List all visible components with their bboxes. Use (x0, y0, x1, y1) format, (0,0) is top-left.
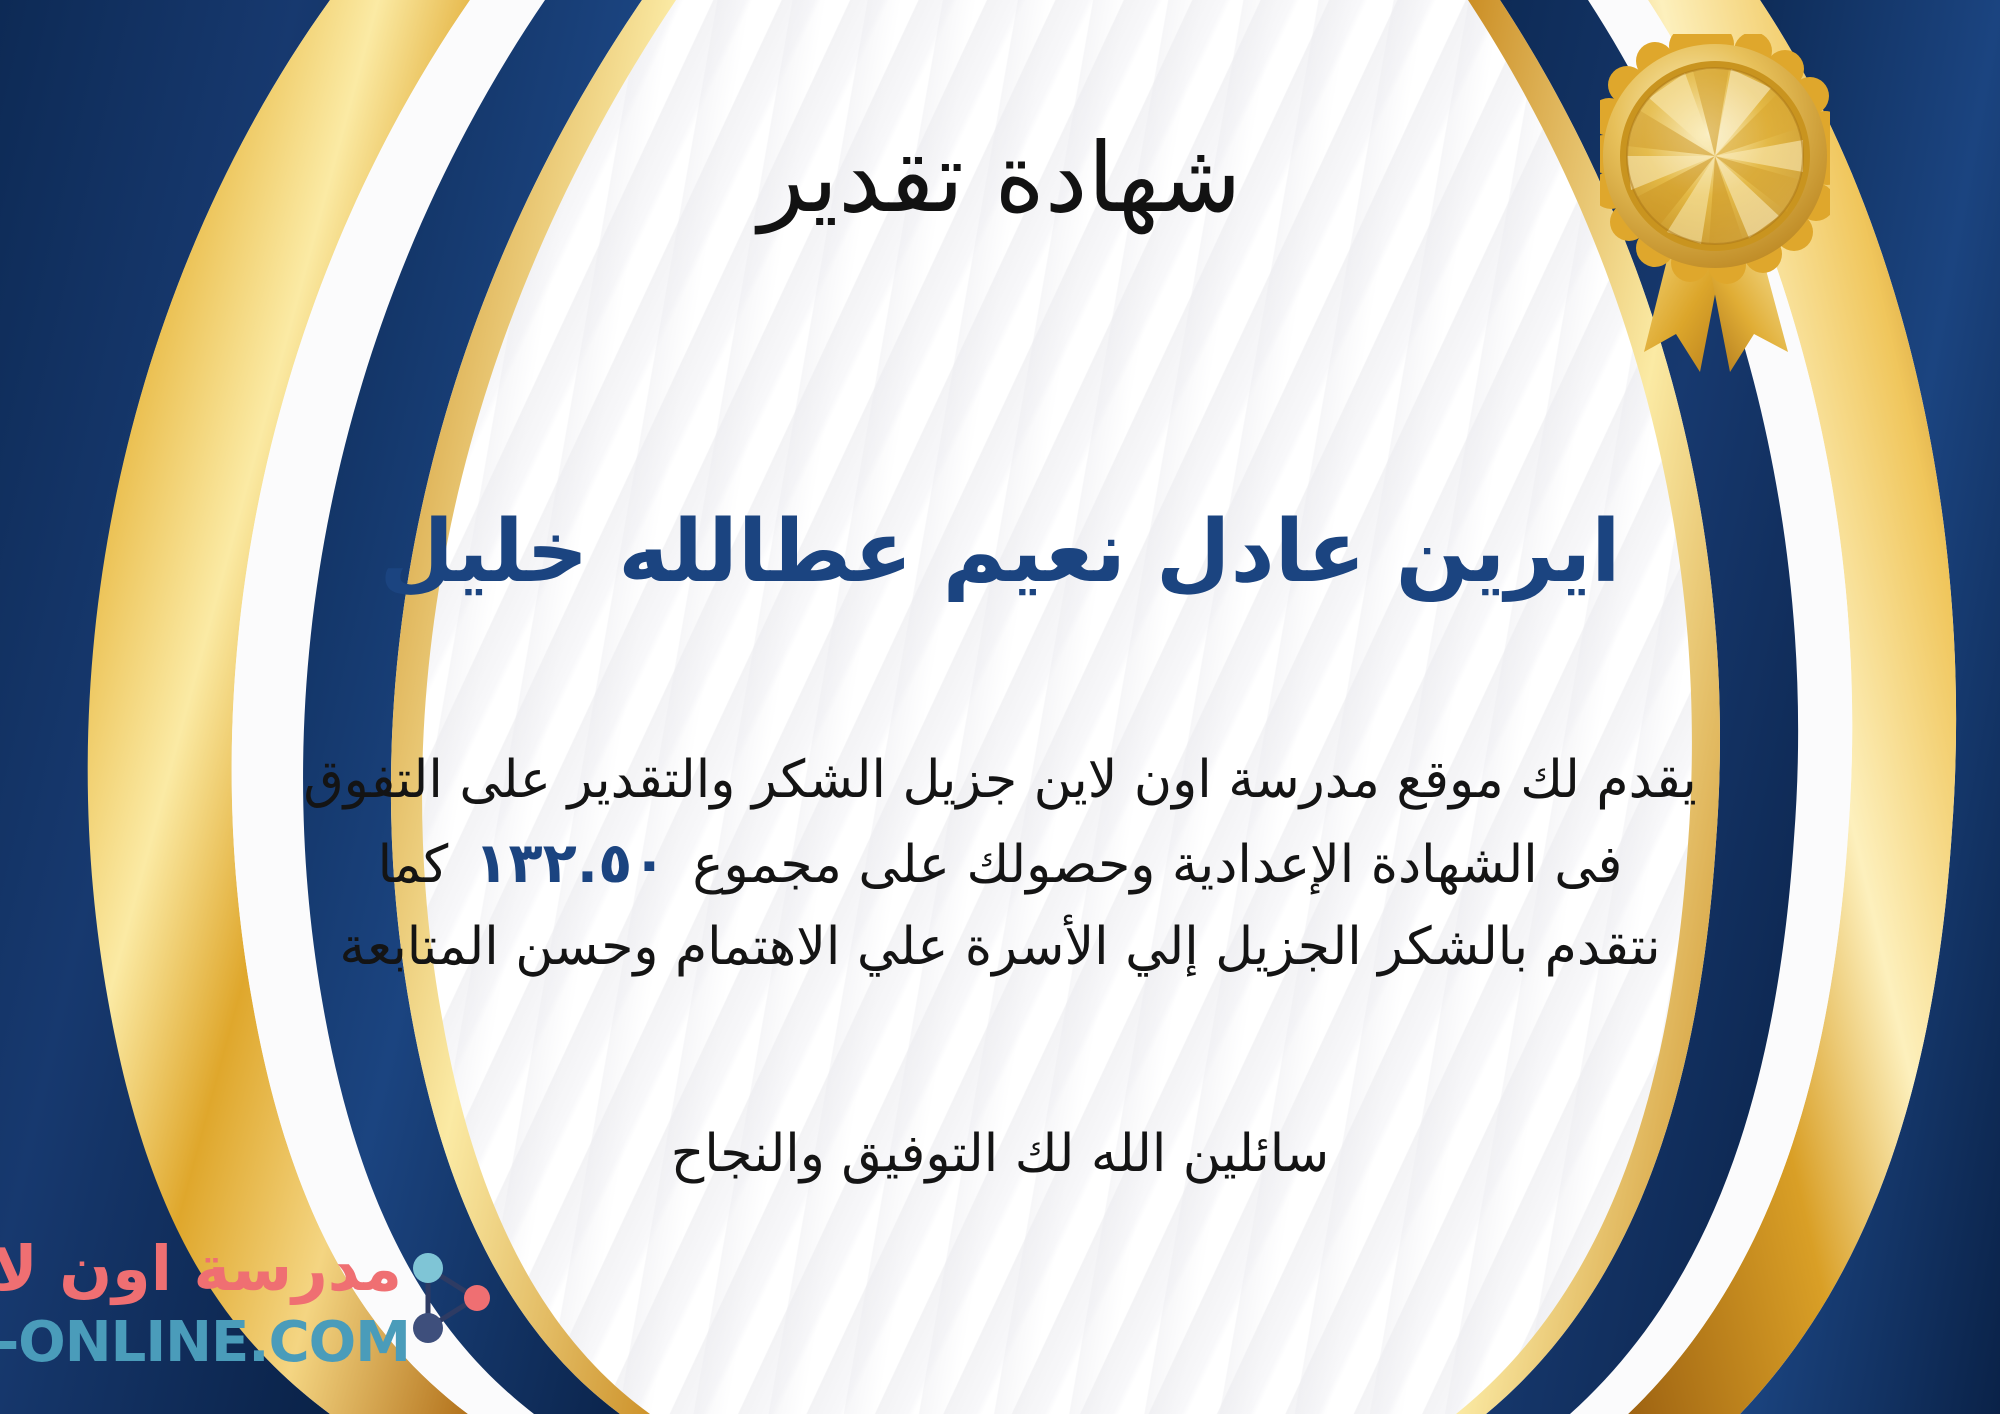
body-line-1: يقدم لك موقع مدرسة اون لاين جزيل الشكر و… (120, 740, 1880, 821)
network-nodes-icon (406, 1242, 498, 1354)
body-line-3: نتقدم بالشكر الجزيل إلي الأسرة علي الاهت… (120, 907, 1880, 988)
recipient-name: ايرين عادل نعيم عطالله خليل (0, 505, 2000, 600)
grade-value: ١٣٢.٥٠ (448, 831, 692, 896)
body-line-2-suffix: كما (378, 835, 449, 895)
certificate-body: يقدم لك موقع مدرسة اون لاين جزيل الشكر و… (120, 740, 1880, 988)
certificate-canvas: شهادة تقدير ايرين عادل نعيم عطالله خليل … (0, 0, 2000, 1414)
certificate-content: شهادة تقدير ايرين عادل نعيم عطالله خليل … (0, 0, 2000, 1414)
logo-arabic-text: مدرسة اون لاين (0, 1232, 402, 1305)
page-title: شهادة تقدير (0, 128, 2000, 229)
logo-domain-text: MADRSA-ONLINE.COM (0, 1310, 410, 1375)
closing-wish: سائلين الله لك التوفيق والنجاح (0, 1118, 2000, 1191)
body-line-2-prefix: فى الشهادة الإعدادية وحصولك على مجموع (692, 835, 1622, 895)
site-logo[interactable]: مدرسة اون لاين MADRSA-ONLINE.COM (28, 1238, 498, 1388)
body-line-2: فى الشهادة الإعدادية وحصولك على مجموع١٣٢… (120, 821, 1880, 908)
